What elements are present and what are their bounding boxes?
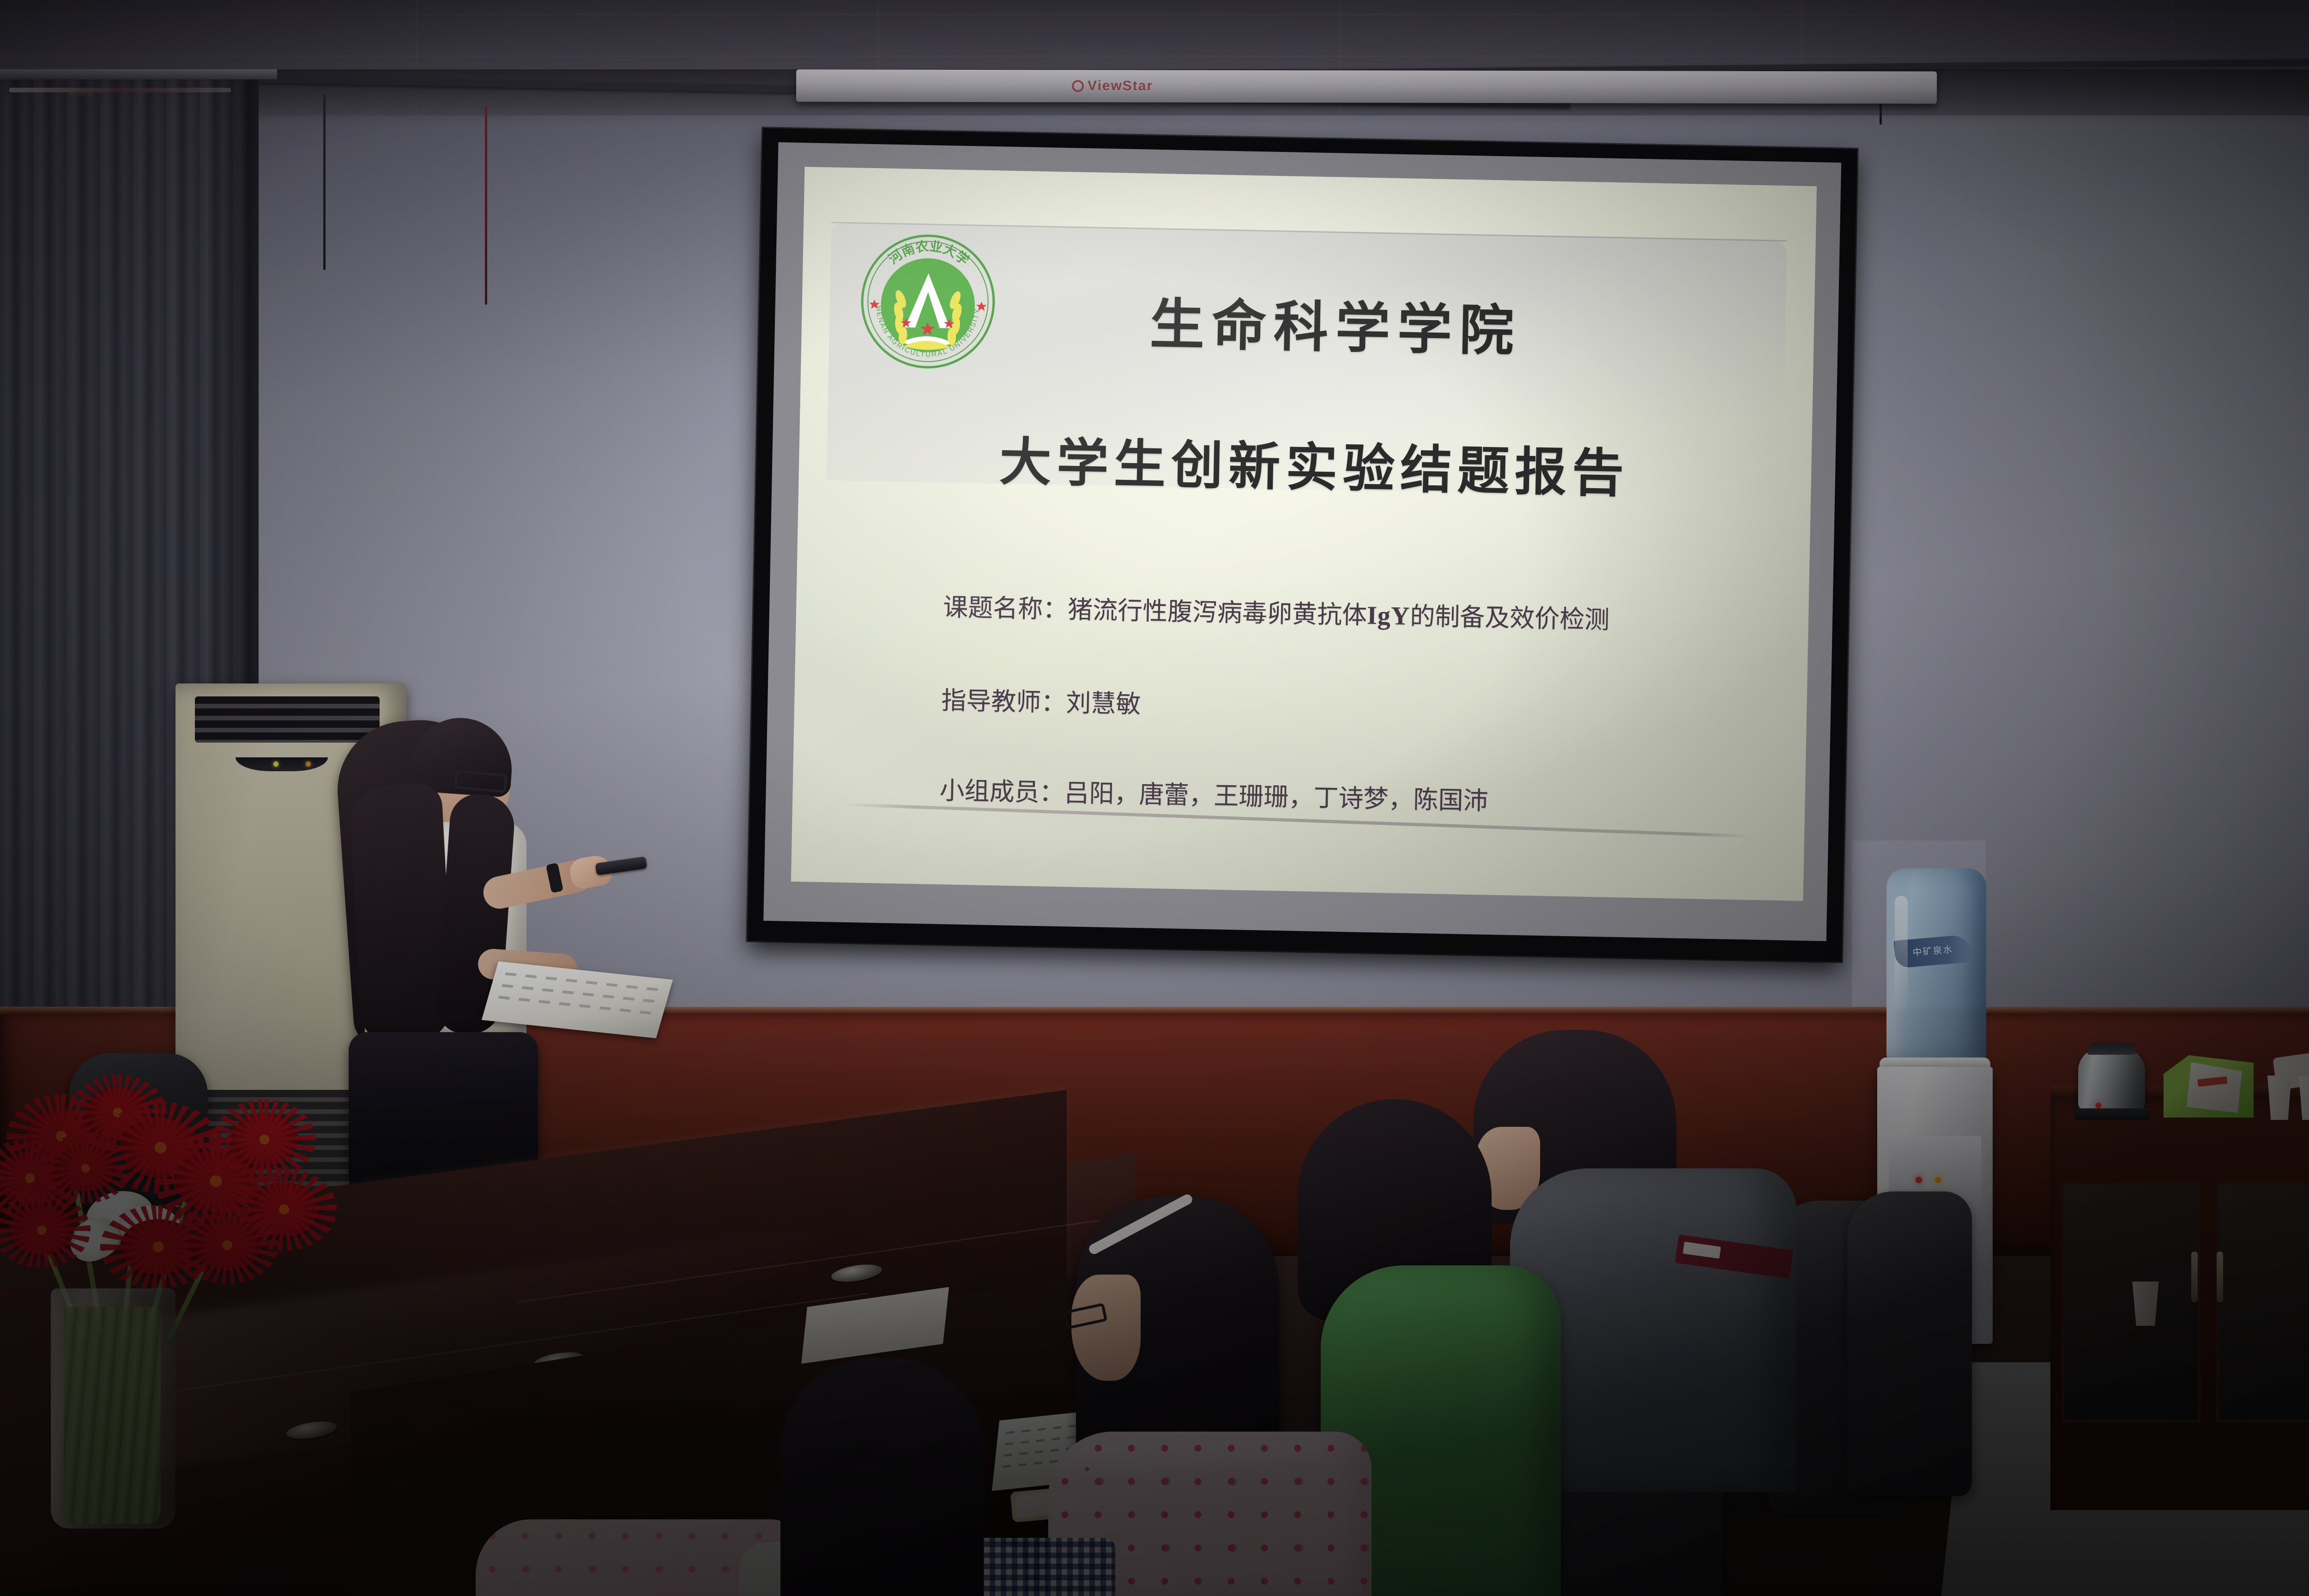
- meeting-room-scene: ViewStar: [0, 0, 2309, 1596]
- hanging-cable-red: [485, 106, 487, 305]
- ac-led-amber-icon: [306, 762, 311, 767]
- water-bottle: 中矿泉水: [1886, 868, 1986, 1062]
- audience-checkered-shirt: [967, 1538, 1115, 1596]
- water-bottle-label: 中矿泉水: [1894, 934, 1972, 968]
- curtain-rod-highlight: [9, 88, 231, 92]
- red-gerbera: [9, 1205, 74, 1255]
- members-label: 小组成员：: [939, 777, 1064, 807]
- slide-advisor-line: 指导教师：刘慧敏: [941, 680, 1141, 720]
- cabinet-handle-right[interactable]: [2217, 1251, 2223, 1302]
- project-label: 课题名称：: [943, 593, 1068, 623]
- presentation-slide: 河南农业大学 HENAN AGRICULTURAL UNIVERSITY 生命科…: [791, 167, 1817, 901]
- paper-cup: [2265, 1076, 2294, 1120]
- ac-vent-top: [195, 696, 380, 743]
- cabinet-glass-door-right[interactable]: [2217, 1182, 2309, 1422]
- audience-front-dark-hair: [780, 1358, 984, 1596]
- packet-stripe: [2197, 1076, 2227, 1087]
- projection-screen[interactable]: ViewStar: [747, 128, 1857, 961]
- paper-cup: [2297, 1076, 2309, 1120]
- audience-face: [1071, 1275, 1141, 1381]
- red-gerbera: [55, 1145, 115, 1191]
- advisor-name: 刘慧敏: [1066, 689, 1141, 718]
- advisor-label: 指导教师：: [941, 687, 1066, 717]
- red-gerbera: [231, 1113, 298, 1166]
- screen-roller-case: ViewStar: [796, 69, 1937, 103]
- tshirt-graphic-block: [1683, 1242, 1721, 1259]
- screen-frame: 河南农业大学 HENAN AGRICULTURAL UNIVERSITY 生命科…: [747, 128, 1857, 961]
- viewstar-logo-icon: ViewStar: [1072, 78, 1153, 94]
- members-names: 吕阳，唐蕾，王珊珊，丁诗梦，陈国沛: [1064, 779, 1488, 815]
- projector-brand-label: ViewStar: [1088, 78, 1153, 94]
- cabinet-handle-left[interactable]: [2191, 1251, 2198, 1302]
- cooler-led-amber-icon: [1935, 1177, 1941, 1183]
- ac-brand-label: Midea: [68, 89, 92, 98]
- kettle-lid[interactable]: [2087, 1043, 2136, 1055]
- ac-control-panel[interactable]: [236, 757, 328, 771]
- paper-cup-row: [2265, 1069, 2309, 1120]
- ac-led-green-icon: [273, 762, 278, 767]
- kettle-power-led-icon: [2096, 1103, 2101, 1108]
- cooler-led-red-icon: [1916, 1177, 1922, 1183]
- kettle-base: [2074, 1108, 2149, 1120]
- water-dispenser-panel[interactable]: [1889, 1136, 1981, 1201]
- hanging-cable: [323, 95, 326, 270]
- viewstar-mark-icon: [1072, 80, 1084, 92]
- chair[interactable]: [1847, 1191, 1972, 1496]
- slide-project-line: 课题名称：猪流行性腹泻病毒卵黄抗体IgY的制备及效价检测: [943, 586, 1610, 636]
- curtain-rod: [0, 69, 277, 79]
- project-title-part2: 的制备及效价检测: [1410, 603, 1610, 634]
- project-title-part1: 猪流行性腹泻病毒卵黄抗体: [1068, 596, 1367, 629]
- red-gerbera: [194, 1219, 261, 1271]
- cabinet-glass-door-left[interactable]: [2062, 1182, 2200, 1422]
- project-title-igy: IgY: [1366, 601, 1410, 631]
- electric-kettle[interactable]: [2078, 1048, 2145, 1111]
- vase-stems: [64, 1307, 161, 1524]
- screen-inner-border: 河南农业大学 HENAN AGRICULTURAL UNIVERSITY 生命科…: [763, 142, 1841, 941]
